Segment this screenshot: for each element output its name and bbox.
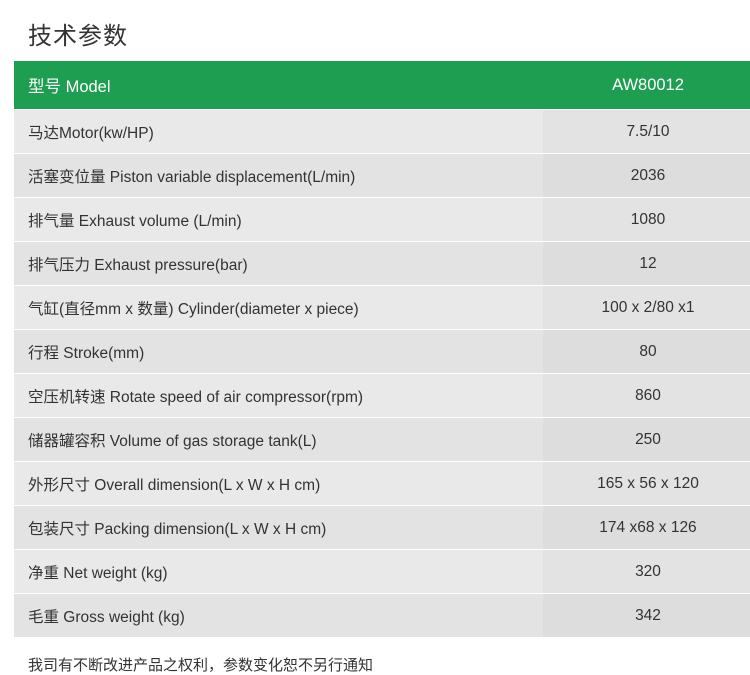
row-value: 250 xyxy=(543,418,750,462)
row-label: 外形尺寸 Overall dimension(L x W x H cm) xyxy=(14,462,543,506)
spec-sheet-page: 技术参数 型号 Model AW80012 马达Motor(kw/HP) 7.5… xyxy=(0,0,750,674)
table-row: 空压机转速 Rotate speed of air compressor(rpm… xyxy=(14,374,750,418)
row-value: 7.5/10 xyxy=(543,110,750,154)
table-row: 气缸(直径mm x 数量) Cylinder(diameter x piece)… xyxy=(14,286,750,330)
row-value: 1080 xyxy=(543,198,750,242)
table-row: 行程 Stroke(mm) 80 xyxy=(14,330,750,374)
row-value: 320 xyxy=(543,550,750,594)
row-value: 174 x68 x 126 xyxy=(543,506,750,550)
header-value-cell: AW80012 xyxy=(543,61,750,110)
table-row: 净重 Net weight (kg) 320 xyxy=(14,550,750,594)
row-label: 排气压力 Exhaust pressure(bar) xyxy=(14,242,543,286)
page-title: 技术参数 xyxy=(0,0,750,61)
row-label: 储器罐容积 Volume of gas storage tank(L) xyxy=(14,418,543,462)
row-label: 空压机转速 Rotate speed of air compressor(rpm… xyxy=(14,374,543,418)
header-label-cell: 型号 Model xyxy=(14,61,543,110)
row-label: 排气量 Exhaust volume (L/min) xyxy=(14,198,543,242)
row-label: 气缸(直径mm x 数量) Cylinder(diameter x piece) xyxy=(14,286,543,330)
table-row: 外形尺寸 Overall dimension(L x W x H cm) 165… xyxy=(14,462,750,506)
table-row: 活塞变位量 Piston variable displacement(L/min… xyxy=(14,154,750,198)
row-label: 行程 Stroke(mm) xyxy=(14,330,543,374)
table-row: 毛重 Gross weight (kg) 342 xyxy=(14,594,750,638)
row-label: 净重 Net weight (kg) xyxy=(14,550,543,594)
row-value: 165 x 56 x 120 xyxy=(543,462,750,506)
table-row: 马达Motor(kw/HP) 7.5/10 xyxy=(14,110,750,154)
footnote-text: 我司有不断改进产品之权利，参数变化恕不另行通知 xyxy=(0,638,750,675)
row-value: 12 xyxy=(543,242,750,286)
row-value: 2036 xyxy=(543,154,750,198)
row-label: 毛重 Gross weight (kg) xyxy=(14,594,543,638)
table-row: 排气量 Exhaust volume (L/min) 1080 xyxy=(14,198,750,242)
row-value: 80 xyxy=(543,330,750,374)
row-value: 342 xyxy=(543,594,750,638)
row-value: 100 x 2/80 x1 xyxy=(543,286,750,330)
table-row: 储器罐容积 Volume of gas storage tank(L) 250 xyxy=(14,418,750,462)
row-label: 活塞变位量 Piston variable displacement(L/min… xyxy=(14,154,543,198)
row-label: 包装尺寸 Packing dimension(L x W x H cm) xyxy=(14,506,543,550)
table-row: 包装尺寸 Packing dimension(L x W x H cm) 174… xyxy=(14,506,750,550)
table-row: 排气压力 Exhaust pressure(bar) 12 xyxy=(14,242,750,286)
row-label: 马达Motor(kw/HP) xyxy=(14,110,543,154)
table-header-row: 型号 Model AW80012 xyxy=(14,61,750,110)
specifications-table: 型号 Model AW80012 马达Motor(kw/HP) 7.5/10 活… xyxy=(14,61,750,638)
row-value: 860 xyxy=(543,374,750,418)
